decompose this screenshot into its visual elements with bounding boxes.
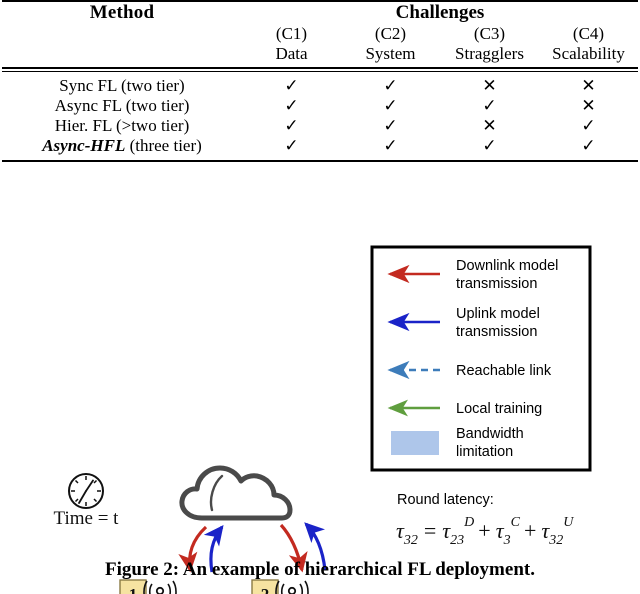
rl-t2-sup: C bbox=[511, 515, 521, 530]
rl-eq: = bbox=[424, 518, 436, 543]
cell-check: ✓ bbox=[440, 136, 539, 156]
table-header-top: Method Challenges bbox=[2, 1, 638, 24]
table-row: Async FL (two tier)✓✓✓✕ bbox=[2, 96, 638, 116]
cell-check: ✓ bbox=[341, 96, 440, 116]
cell-check: ✓ bbox=[341, 116, 440, 136]
rl-t3-sup: U bbox=[563, 515, 574, 530]
header-spacer bbox=[2, 24, 242, 44]
edge-server-2-badge: 2 bbox=[261, 585, 270, 594]
cell-cross: ✕ bbox=[440, 76, 539, 96]
svg-text:τ32=τ23D+τ3C+τ32U: τ32=τ23D+τ3C+τ32U bbox=[396, 515, 574, 548]
row-method-emphasis: Async-HFL bbox=[42, 136, 125, 155]
legend-uplink-line2: transmission bbox=[456, 324, 537, 340]
rl-t3-sub: 32 bbox=[548, 533, 563, 548]
cloud-icon bbox=[182, 468, 290, 518]
table-row: Async-HFL (three tier)✓✓✓✓ bbox=[2, 136, 638, 156]
cell-check: ✓ bbox=[341, 136, 440, 156]
round-latency-title: Round latency: bbox=[397, 492, 494, 508]
rl-t1-sup: D bbox=[463, 515, 474, 530]
header-name-c1: Data bbox=[242, 44, 341, 64]
legend-downlink-line2: transmission bbox=[456, 276, 537, 292]
cell-check: ✓ bbox=[242, 116, 341, 136]
comparison-table-body: Sync FL (two tier)✓✓✕✕Async FL (two tier… bbox=[2, 76, 638, 156]
cell-check: ✓ bbox=[341, 76, 440, 96]
legend-bandwidth-line1: Bandwidth bbox=[456, 426, 524, 442]
table-header-codes: (C1) (C2) (C3) (C4) bbox=[2, 24, 638, 44]
legend-bandwidth-swatch-icon bbox=[391, 431, 439, 455]
edge-server-1[interactable]: 1 bbox=[120, 580, 185, 594]
rl-lhs-sub: 32 bbox=[403, 533, 418, 548]
header-name-c2: System bbox=[341, 44, 440, 64]
table-header-names: Data System Stragglers Scalability bbox=[2, 44, 638, 64]
header-method: Method bbox=[2, 1, 242, 24]
legend-downlink-line1: Downlink model bbox=[456, 258, 558, 274]
header-name-c4: Scalability bbox=[539, 44, 638, 64]
header-code-c2: (C2) bbox=[341, 24, 440, 44]
row-method-label: Sync FL (two tier) bbox=[2, 76, 242, 96]
edge-server-1-badge: 1 bbox=[129, 585, 138, 594]
rl-plus-2: + bbox=[524, 518, 536, 543]
rl-t1-sub: 23 bbox=[450, 533, 464, 548]
clock-icon bbox=[69, 474, 103, 508]
comparison-table: Method Challenges (C1) (C2) (C3) (C4) Da… bbox=[2, 0, 638, 64]
cell-check: ✓ bbox=[440, 96, 539, 116]
legend-training-line1: Local training bbox=[456, 401, 542, 417]
header-code-c3: (C3) bbox=[440, 24, 539, 44]
cell-cross: ✕ bbox=[440, 116, 539, 136]
header-name-c3: Stragglers bbox=[440, 44, 539, 64]
comparison-table-wrap: Method Challenges (C1) (C2) (C3) (C4) Da… bbox=[0, 0, 640, 162]
edge-server-2[interactable]: 2 bbox=[252, 580, 317, 594]
cell-cross: ✕ bbox=[539, 76, 638, 96]
hierarchical-fl-diagram: 1 bbox=[0, 222, 640, 594]
cell-check: ✓ bbox=[539, 136, 638, 156]
legend-reachable-line1: Reachable link bbox=[456, 363, 552, 379]
row-method-label: Async FL (two tier) bbox=[2, 96, 242, 116]
cell-check: ✓ bbox=[242, 136, 341, 156]
rl-t2-sub: 3 bbox=[503, 533, 511, 548]
table-rule-bottom bbox=[2, 160, 638, 162]
row-method-label: Async-HFL (three tier) bbox=[2, 136, 242, 156]
table-rule-midtop bbox=[2, 67, 638, 69]
table-row: Hier. FL (>two tier)✓✓✕✓ bbox=[2, 116, 638, 136]
rl-plus-1: + bbox=[478, 518, 490, 543]
table-row: Sync FL (two tier)✓✓✕✕ bbox=[2, 76, 638, 96]
cell-check: ✓ bbox=[242, 76, 341, 96]
cell-cross: ✕ bbox=[539, 96, 638, 116]
row-method-rest: (three tier) bbox=[125, 136, 201, 155]
header-challenges: Challenges bbox=[242, 1, 638, 24]
figure-caption: Figure 2: An example of hierarchical FL … bbox=[0, 559, 640, 581]
table-rule-midbottom bbox=[2, 71, 638, 72]
legend-uplink-line1: Uplink model bbox=[456, 306, 540, 322]
figure-page: Method Challenges (C1) (C2) (C3) (C4) Da… bbox=[0, 0, 640, 594]
header-code-c1: (C1) bbox=[242, 24, 341, 44]
header-code-c4: (C4) bbox=[539, 24, 638, 44]
row-method-label: Hier. FL (>two tier) bbox=[2, 116, 242, 136]
cell-check: ✓ bbox=[539, 116, 638, 136]
cell-check: ✓ bbox=[242, 96, 341, 116]
round-latency-formula: τ32=τ23D+τ3C+τ32U bbox=[396, 515, 574, 548]
legend-box: Downlink model transmission Uplink model… bbox=[372, 247, 590, 470]
header-spacer-2 bbox=[2, 44, 242, 64]
time-label: Time = t bbox=[54, 508, 120, 529]
legend-bandwidth-line2: limitation bbox=[456, 444, 513, 460]
